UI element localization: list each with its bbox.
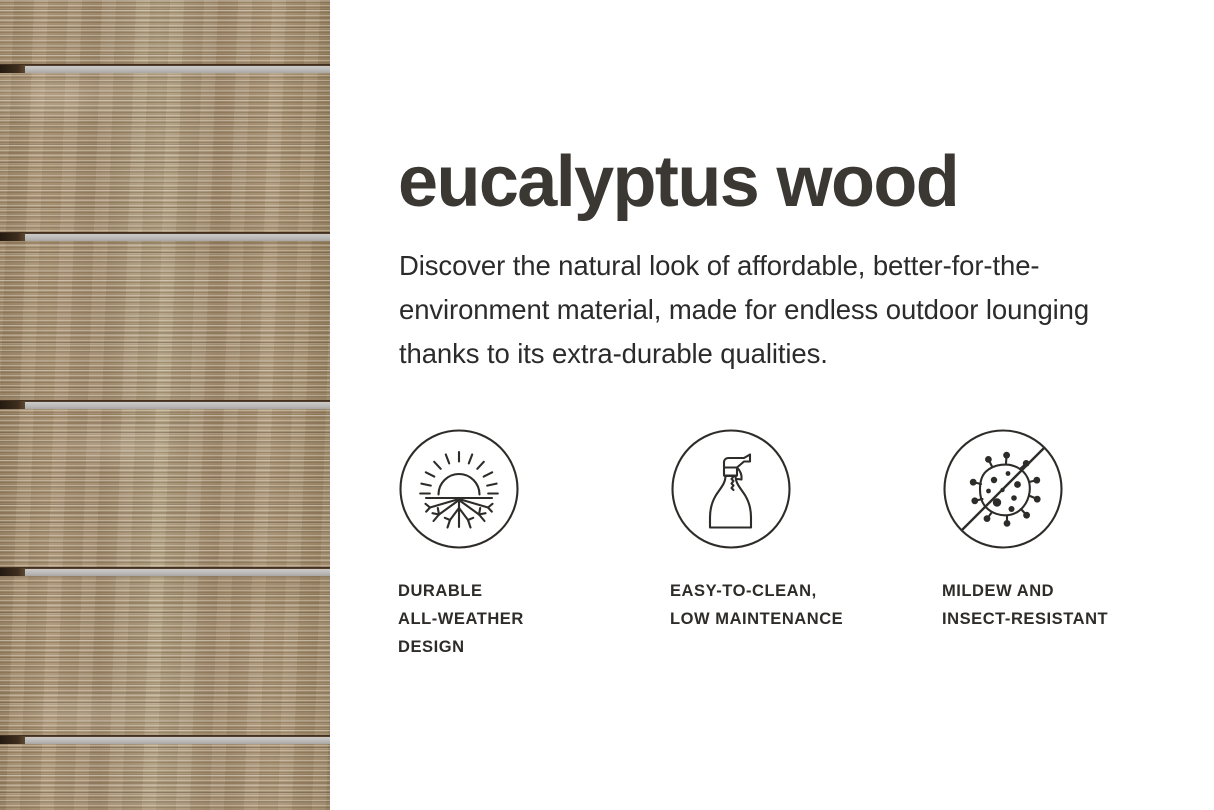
content-column: eucalyptus wood Discover the natural loo… bbox=[330, 0, 1214, 810]
feature-caption: EASY-TO-CLEAN, LOW MAINTENANCE bbox=[670, 577, 843, 633]
wood-slat-image bbox=[0, 0, 330, 810]
slat-gap bbox=[0, 735, 330, 744]
slat-highlight-bar bbox=[24, 402, 330, 409]
feature-item-durable: DURABLE ALL-WEATHER DESIGN bbox=[398, 428, 670, 661]
slat-gap bbox=[0, 567, 330, 576]
slat-highlight-bar bbox=[24, 66, 330, 73]
slat-highlight-bar bbox=[24, 234, 330, 241]
description-text: Discover the natural look of affordable,… bbox=[399, 244, 1139, 376]
feature-list: DURABLE ALL-WEATHER DESIGN bbox=[398, 428, 1188, 661]
slat-gap bbox=[0, 400, 330, 409]
slat-highlight-bar bbox=[24, 569, 330, 576]
eucalyptus-wood-feature-panel: eucalyptus wood Discover the natural loo… bbox=[0, 0, 1214, 810]
sun-over-roots-icon bbox=[398, 428, 520, 550]
slat-recess-end bbox=[0, 65, 25, 73]
slat-recess-end bbox=[0, 401, 25, 409]
no-germs-icon bbox=[942, 428, 1064, 550]
page-title: eucalyptus wood bbox=[398, 143, 958, 221]
slat-gap bbox=[0, 232, 330, 241]
feature-item-easy-clean: EASY-TO-CLEAN, LOW MAINTENANCE bbox=[670, 428, 942, 661]
slat-recess-end bbox=[0, 736, 25, 744]
slat-highlight-bar bbox=[24, 737, 330, 744]
slat-recess-end bbox=[0, 233, 25, 241]
feature-caption: DURABLE ALL-WEATHER DESIGN bbox=[398, 577, 524, 661]
feature-item-mildew-resistant: MILDEW AND INSECT-RESISTANT bbox=[942, 428, 1182, 661]
feature-caption: MILDEW AND INSECT-RESISTANT bbox=[942, 577, 1108, 633]
slat-recess-end bbox=[0, 568, 25, 576]
slat-gap bbox=[0, 64, 330, 73]
spray-bottle-icon bbox=[670, 428, 792, 550]
